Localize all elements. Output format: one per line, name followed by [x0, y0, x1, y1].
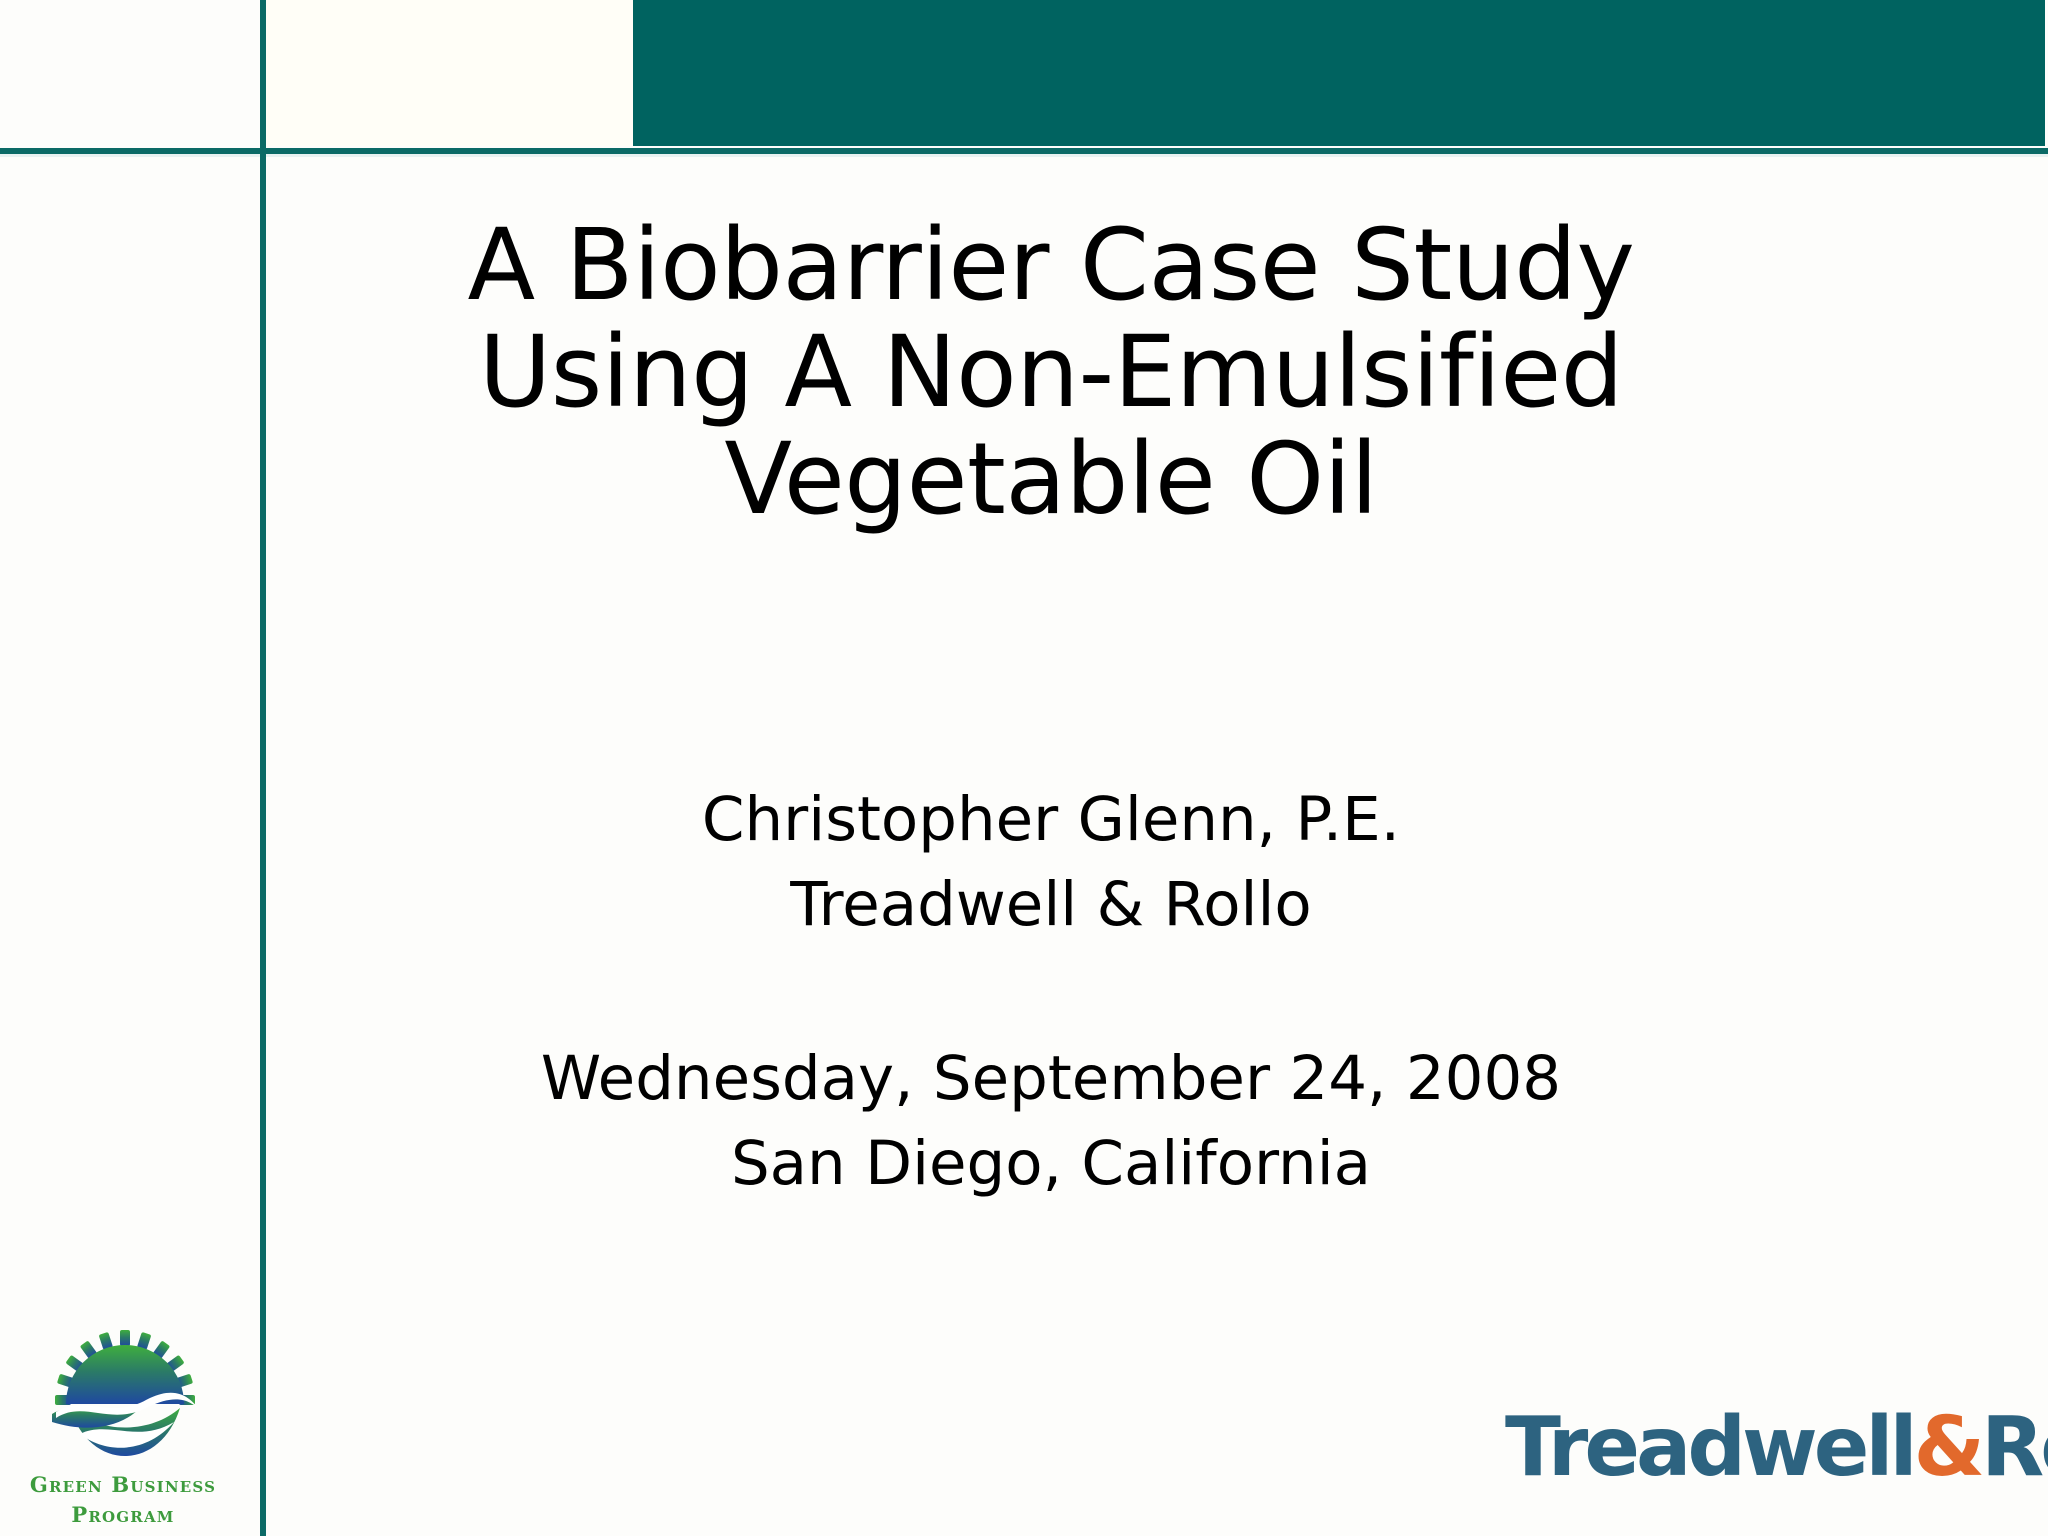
gbp-line-2: Program: [28, 1499, 218, 1530]
event-location: San Diego, California: [266, 1121, 1836, 1206]
treadwell-wordmark-part1: Treadwell: [1505, 1400, 1914, 1495]
treadwell-rollo-logo: Treadwell&Rollo: [1505, 1400, 2025, 1495]
presenter-organization: Treadwell & Rollo: [266, 862, 1836, 947]
green-business-wordmark: Green Business Program: [28, 1470, 218, 1530]
page-title: A Biobarrier Case Study Using A Non-Emul…: [266, 212, 1836, 533]
slide-content: A Biobarrier Case Study Using A Non-Emul…: [266, 157, 2048, 1536]
subtitle-spacer: [266, 947, 1836, 1036]
presenter-name: Christopher Glenn, P.E.: [266, 777, 1836, 862]
treadwell-wordmark-part2: Rollo: [1981, 1400, 2048, 1495]
subtitle-block: Christopher Glenn, P.E. Treadwell & Roll…: [266, 777, 1836, 1206]
green-business-gear-wave-icon: [50, 1322, 200, 1472]
title-line-3: Vegetable Oil: [266, 426, 1836, 533]
title-line-2: Using A Non-Emulsified: [266, 319, 1836, 426]
header-horizontal-rule: [0, 148, 2048, 154]
treadwell-ampersand: &: [1914, 1400, 1982, 1495]
header-teal-band: [633, 0, 2045, 146]
title-slide: A Biobarrier Case Study Using A Non-Emul…: [0, 0, 2048, 1536]
green-business-program-logo: Green Business Program: [28, 1322, 218, 1536]
header-ivory-panel: [266, 0, 633, 146]
gbp-line-1: Green Business: [28, 1470, 218, 1499]
title-line-1: A Biobarrier Case Study: [266, 212, 1836, 319]
event-date: Wednesday, September 24, 2008: [266, 1036, 1836, 1121]
